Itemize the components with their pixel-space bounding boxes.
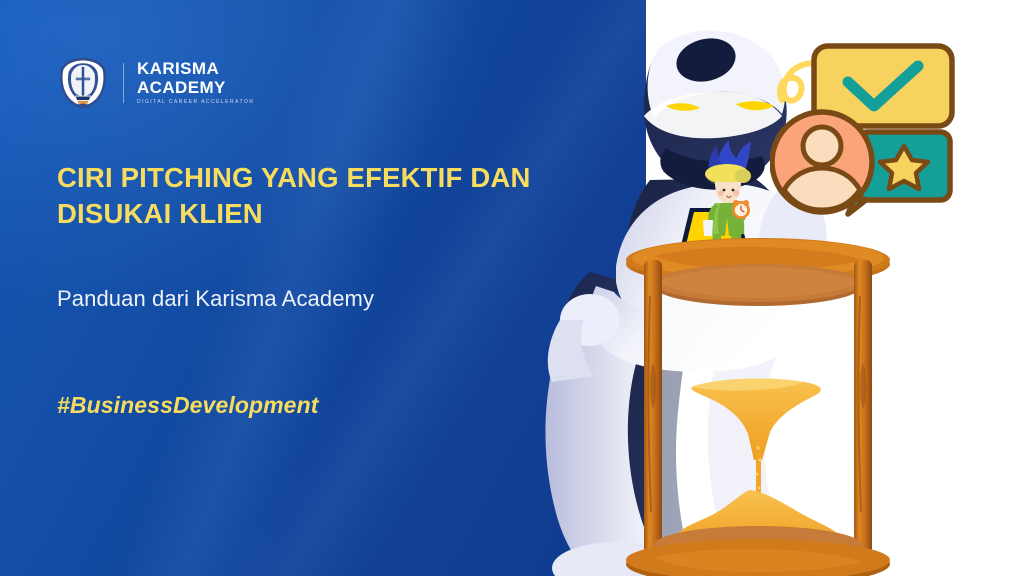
brand-logo[interactable]: KARISMA ACADEMY DIGITAL CAREER ACCELERAT… <box>56 56 254 110</box>
hashtag-label: #BusinessDevelopment <box>57 392 318 419</box>
logo-line-2: ACADEMY <box>137 79 254 96</box>
logo-divider <box>123 63 124 103</box>
logo-wordmark: KARISMA ACADEMY DIGITAL CAREER ACCELERAT… <box>137 60 254 105</box>
presentation-slide: KARISMA ACADEMY DIGITAL CAREER ACCELERAT… <box>0 0 1024 576</box>
page-title: CIRI PITCHING YANG EFEKTIF DAN DISUKAI K… <box>57 160 557 232</box>
subtitle-text: Panduan dari Karisma Academy <box>57 286 537 312</box>
karisma-knight-emblem-icon <box>56 56 110 110</box>
illustration-group <box>530 0 1024 576</box>
avatar-circle <box>772 112 872 212</box>
feedback-bubbles-group <box>770 38 960 223</box>
squiggle-icon <box>780 64 814 101</box>
hourglass <box>598 236 918 576</box>
logo-line-1: KARISMA <box>137 60 254 77</box>
logo-tagline: DIGITAL CAREER ACCELERATOR <box>137 100 254 105</box>
